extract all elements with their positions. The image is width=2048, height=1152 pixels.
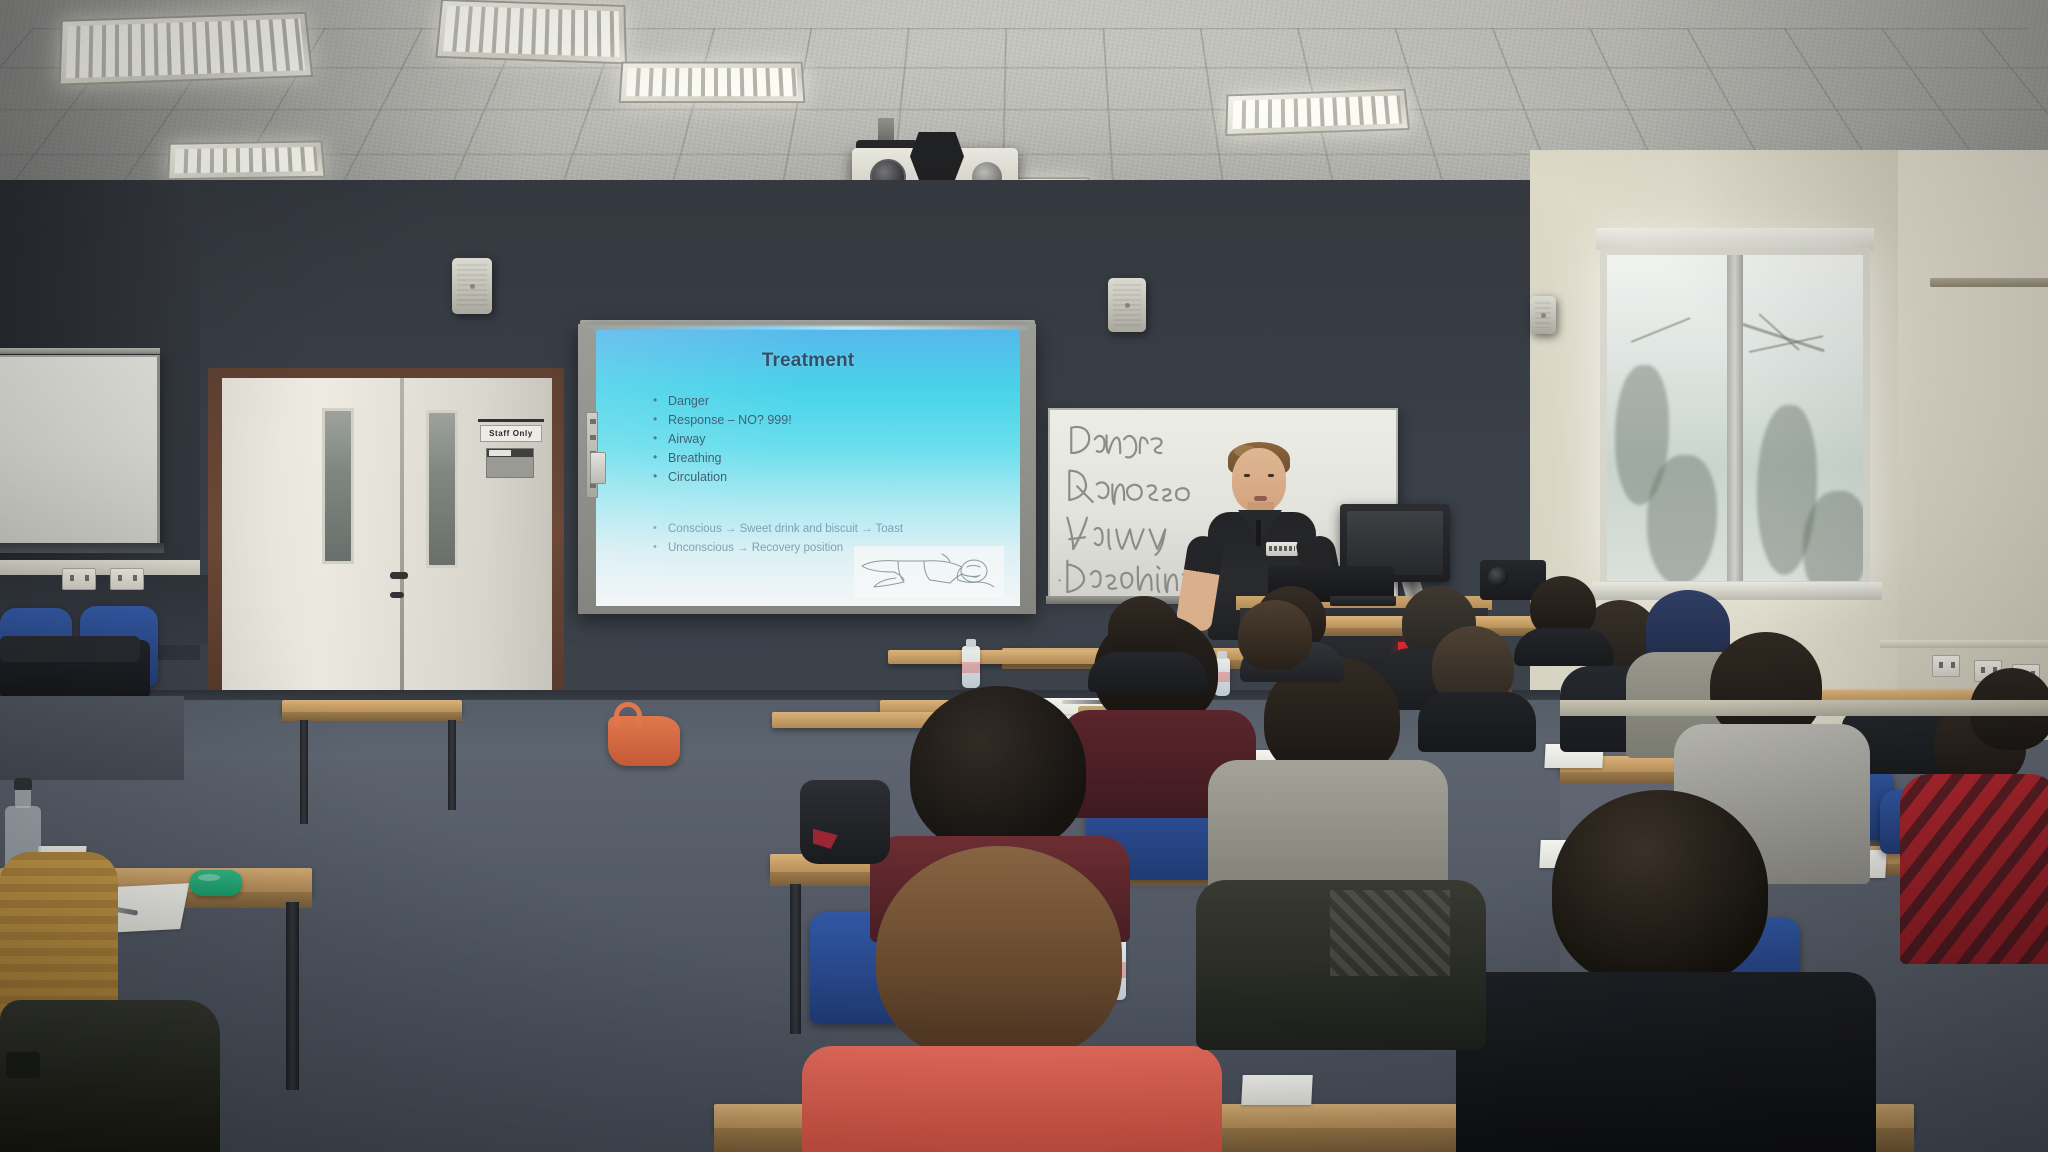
- window-mullion: [1727, 255, 1743, 581]
- slide-bullet: Circulation: [651, 468, 1004, 487]
- wall-rail: [1930, 278, 2048, 287]
- slide-bullet: Response – NO? 999!: [651, 411, 1004, 430]
- wall-speaker: [1530, 296, 1556, 334]
- ceiling-light-panel: [1225, 89, 1410, 136]
- bag-on-chair: [0, 636, 140, 662]
- staff-sign-bar: [478, 419, 544, 422]
- bag-strap: [6, 1052, 40, 1078]
- backpack[interactable]: [800, 780, 890, 864]
- student: [1514, 576, 1614, 660]
- presenter-shirt-logo: [1266, 542, 1298, 556]
- power-socket[interactable]: [1932, 655, 1960, 677]
- window: [1600, 248, 1870, 588]
- desk-leg: [790, 884, 801, 1034]
- orange-carrier-bag[interactable]: [608, 716, 680, 766]
- wall-speaker: [452, 258, 492, 314]
- classroom-scene: Staff Only Treatment Danger Response – N…: [0, 0, 2048, 1152]
- student-head: [910, 686, 1086, 852]
- student-foreground: [1456, 790, 1876, 1152]
- student-hair: [876, 846, 1122, 1062]
- whiteboard-pen-tray: [0, 543, 164, 553]
- student-head: [1552, 790, 1768, 988]
- student: [1222, 600, 1332, 696]
- student-torso: [1514, 628, 1614, 666]
- desk-edge: [282, 712, 462, 721]
- room-number-strip: [489, 450, 511, 456]
- staff-only-label: Staff Only: [489, 429, 533, 438]
- bag-handle: [614, 702, 642, 726]
- door-vision-panel: [322, 408, 354, 564]
- ceiling-light-panel: [619, 62, 806, 103]
- backpack-logo: [813, 829, 838, 849]
- ceiling-light-panel: [59, 12, 314, 86]
- power-socket-strip: [0, 565, 200, 595]
- green-pencil-case[interactable]: [190, 870, 242, 896]
- student-with-glasses: [1970, 668, 2048, 788]
- student: [1088, 596, 1208, 686]
- power-socket[interactable]: [110, 568, 144, 590]
- light-switch[interactable]: [590, 452, 606, 484]
- window-head-trim: [1596, 228, 1874, 250]
- room-number-plaque: [486, 448, 534, 478]
- desk-leg: [300, 720, 308, 824]
- presentation-slide: Treatment Danger Response – NO? 999! Air…: [596, 330, 1020, 606]
- slide-bullet: Danger: [651, 392, 1004, 411]
- desk-leg: [448, 720, 456, 810]
- cable-trunking: [1880, 640, 2048, 648]
- student-coral-top: [802, 1046, 1222, 1152]
- student-head: [1238, 600, 1312, 670]
- staff-only-sign: Staff Only: [480, 425, 542, 442]
- water-bottle[interactable]: [962, 646, 980, 688]
- presenter-eye: [1268, 474, 1274, 477]
- presenter-placket: [1256, 520, 1261, 546]
- left-whiteboard: [0, 355, 160, 545]
- wall-speaker: [1108, 278, 1146, 332]
- door-handle[interactable]: [390, 572, 408, 579]
- student-foreground: [802, 846, 1222, 1152]
- presenter-eye: [1244, 474, 1250, 477]
- floor-shadow: [0, 696, 184, 780]
- power-socket[interactable]: [62, 568, 96, 590]
- whiteboard-rail: [0, 348, 160, 354]
- camera-lens-icon: [1488, 567, 1508, 587]
- slide-bullet: Breathing: [651, 449, 1004, 468]
- door-vision-panel: [426, 410, 458, 568]
- name-tent-card: [1241, 1075, 1313, 1105]
- student-torso: [1456, 972, 1876, 1152]
- ceiling-light-panel: [167, 141, 326, 181]
- tartan-scarf: [1330, 890, 1450, 976]
- student-torso: [1088, 652, 1208, 692]
- skirting-right: [1560, 700, 2048, 716]
- student-patterned-sweater: [1900, 774, 2048, 964]
- presenter-mouth: [1254, 496, 1267, 501]
- slide-title: Treatment: [596, 350, 1020, 372]
- recovery-position-illustration: [854, 546, 1004, 598]
- slide-bullet: Airway: [651, 430, 1004, 449]
- bottle-cap: [14, 778, 32, 790]
- ceiling-light-panel: [435, 0, 627, 64]
- slide-bullet-list: Danger Response – NO? 999! Airway Breath…: [651, 392, 1004, 487]
- slide-secondary-bullet: Conscious → Sweet drink and biscuit → To…: [651, 520, 1010, 539]
- door-handle[interactable]: [390, 592, 404, 598]
- desk-leg: [286, 902, 299, 1090]
